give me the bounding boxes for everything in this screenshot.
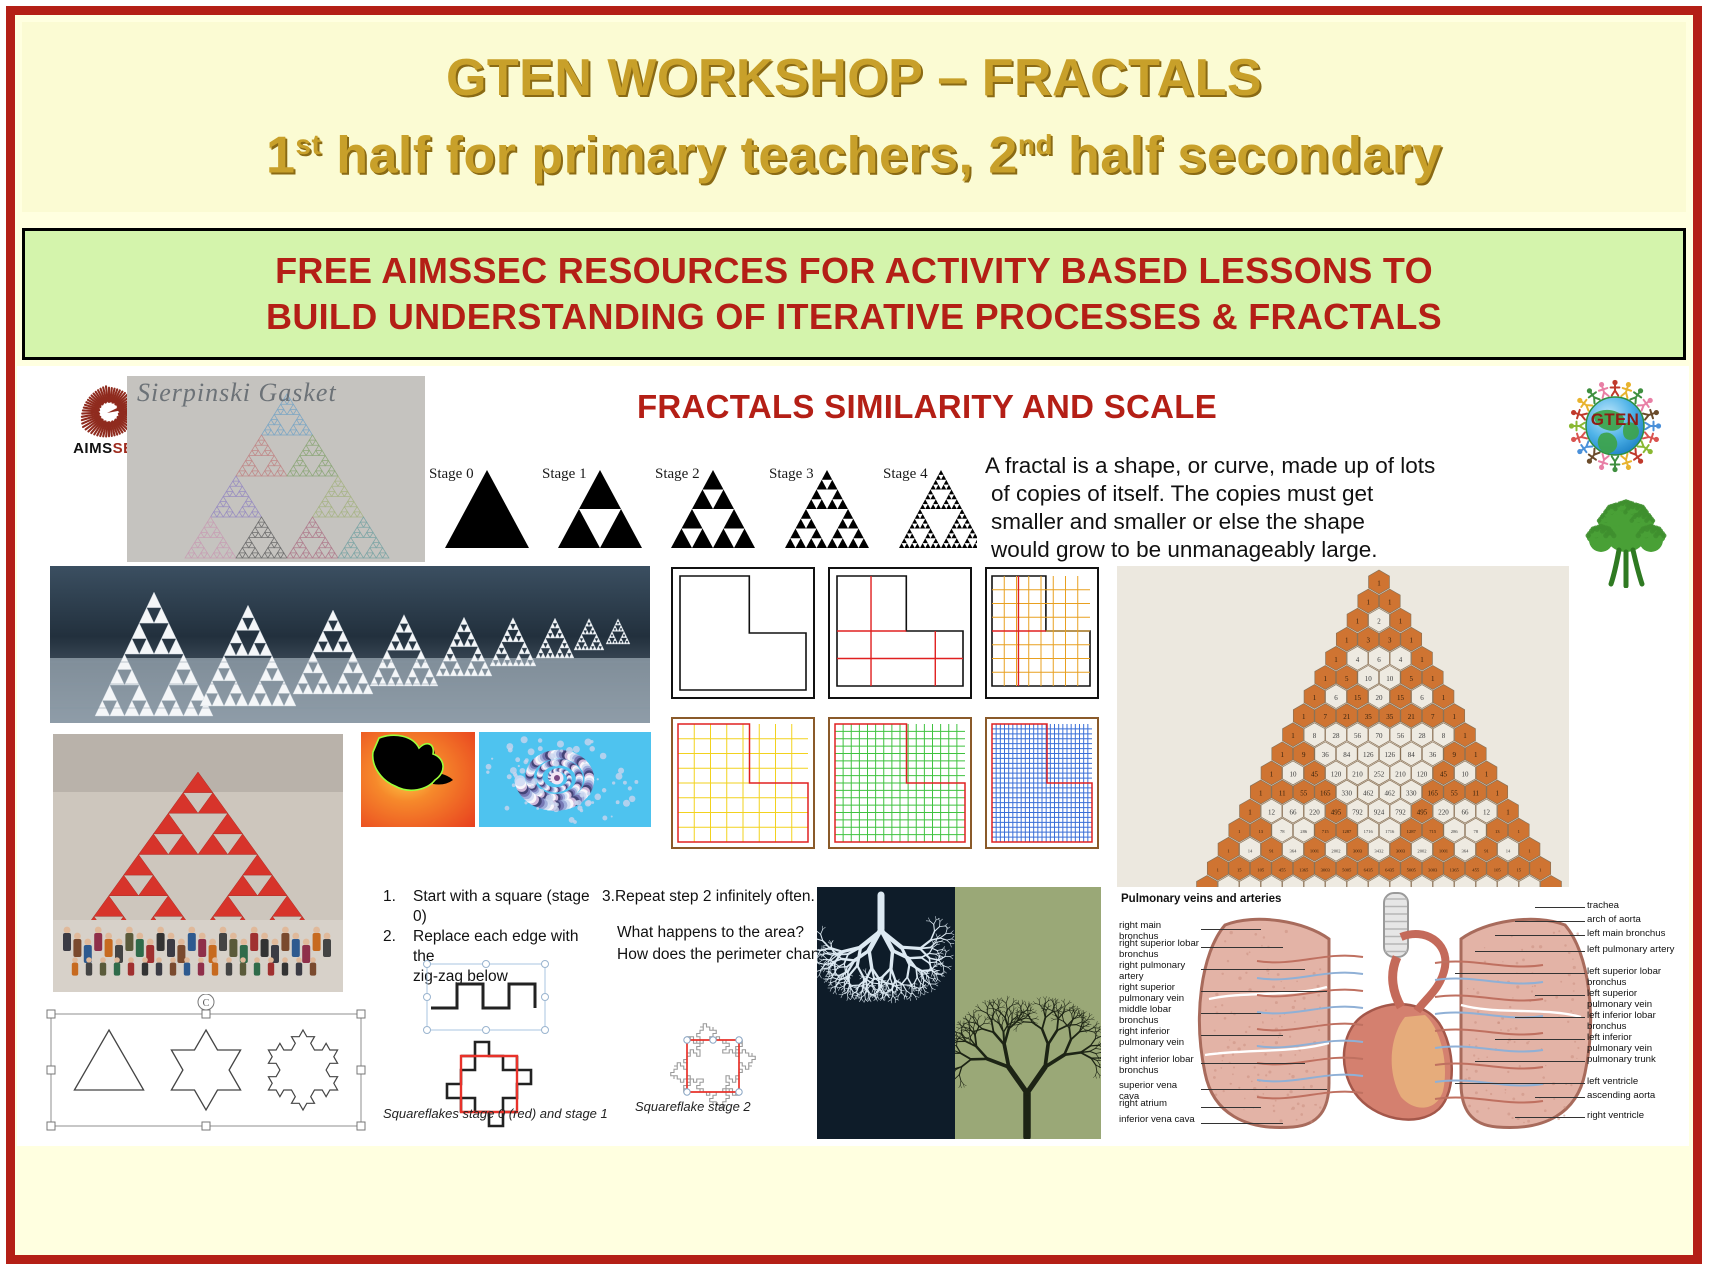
svg-text:715: 715	[1429, 829, 1437, 834]
svg-text:2002: 2002	[1417, 848, 1427, 853]
anatomy-label-left: right superior pulmonary vein	[1119, 983, 1199, 1004]
svg-text:126: 126	[1385, 751, 1396, 759]
svg-text:28: 28	[1333, 732, 1341, 740]
anatomy-label-left: middle lobar bronchus	[1119, 1005, 1199, 1026]
svg-text:792: 792	[1395, 808, 1406, 816]
svg-text:45: 45	[1440, 770, 1448, 778]
instruction-item: 3.Repeat step 2 infinitely often.	[602, 887, 832, 907]
content-area: AIMSSEC GTEN FRACTALS SIMILARITY AND SCA…	[17, 366, 1689, 1146]
svg-text:45: 45	[1311, 770, 1319, 778]
svg-text:1716: 1716	[1385, 829, 1395, 834]
svg-text:210: 210	[1352, 770, 1363, 778]
svg-text:4: 4	[1356, 656, 1360, 664]
anatomy-label-left: right inferior pulmonary vein	[1119, 1027, 1199, 1048]
svg-text:2: 2	[1377, 618, 1381, 626]
anatomy-leader-line	[1201, 1063, 1305, 1064]
anatomy-label-left: right superior lobar bronchus	[1119, 939, 1199, 960]
lsystem-svg-2	[984, 566, 1100, 700]
sierpinski-gasket-photo: Sierpinski Gasket	[127, 376, 425, 562]
lsystem-stage-1	[827, 566, 973, 700]
svg-text:12: 12	[1483, 808, 1491, 816]
squareflake-progression-svg: C	[41, 994, 371, 1134]
svg-text:1: 1	[1248, 808, 1252, 816]
julia-spiral-image	[479, 732, 651, 827]
svg-text:7: 7	[1431, 713, 1435, 721]
definition-line-1: of copies of itself. The copies must get	[985, 480, 1457, 508]
anatomy-label-right: right ventricle	[1587, 1111, 1679, 1122]
anatomy-leader-line	[1201, 1013, 1261, 1014]
instruction-item: 1.Start with a square (stage 0)	[383, 887, 598, 927]
anatomy-title: Pulmonary veins and arteries	[1121, 893, 1281, 905]
svg-text:1: 1	[1334, 656, 1338, 664]
svg-text:10: 10	[1386, 675, 1394, 683]
lsystem-stage-5	[984, 716, 1100, 850]
svg-text:1: 1	[1442, 694, 1446, 702]
anatomy-leader-line	[1201, 1107, 1261, 1108]
anatomy-label-right: left inferior pulmonary vein	[1587, 1033, 1679, 1054]
svg-text:1: 1	[1474, 751, 1478, 759]
svg-text:56: 56	[1354, 732, 1362, 740]
svg-text:330: 330	[1342, 789, 1353, 797]
svg-text:286: 286	[1451, 829, 1459, 834]
svg-text:495: 495	[1417, 808, 1428, 816]
page-title: FRACTALS SIMILARITY AND SCALE	[577, 388, 1277, 426]
anatomy-label-right: left inferior lobar bronchus	[1587, 1011, 1679, 1032]
svg-text:462: 462	[1385, 789, 1396, 797]
resources-banner: FREE AIMSSEC RESOURCES FOR ACTIVITY BASE…	[22, 228, 1686, 360]
svg-text:55: 55	[1451, 789, 1459, 797]
svg-text:78: 78	[1280, 829, 1285, 834]
svg-text:924: 924	[1374, 808, 1385, 816]
svg-text:5: 5	[1410, 675, 1414, 683]
definition-line-0: A fractal is a shape, or curve, made up …	[985, 452, 1457, 480]
svg-text:28: 28	[1419, 732, 1427, 740]
svg-text:Stage 4: Stage 4	[883, 466, 928, 482]
squareflake-caption-2: Squareflake stage 2	[635, 1099, 751, 1114]
svg-text:8: 8	[1313, 732, 1317, 740]
gten-logo-label: GTEN	[1563, 410, 1667, 430]
svg-text:Stage 0: Stage 0	[429, 466, 474, 482]
tree-svg	[955, 887, 1101, 1139]
svg-text:36: 36	[1322, 751, 1330, 759]
subtitle-sup-2: nd	[1018, 129, 1053, 160]
svg-text:Stage 3: Stage 3	[769, 466, 814, 482]
svg-text:3003: 3003	[1321, 867, 1331, 872]
svg-text:220: 220	[1309, 808, 1320, 816]
anatomy-leader-line	[1201, 1123, 1283, 1124]
anatomy-label-right: left pulmonary artery	[1587, 945, 1679, 956]
svg-text:4: 4	[1399, 656, 1403, 664]
svg-text:9: 9	[1453, 751, 1457, 759]
banner-line-1: FREE AIMSSEC RESOURCES FOR ACTIVITY BASE…	[275, 248, 1433, 294]
aimssec-text-a: AIMS	[73, 440, 113, 457]
anatomy-leader-line	[1515, 921, 1585, 922]
svg-text:78: 78	[1473, 829, 1478, 834]
svg-text:1365: 1365	[1450, 867, 1460, 872]
svg-text:1001: 1001	[1310, 848, 1320, 853]
svg-text:1: 1	[1367, 598, 1371, 606]
svg-text:15: 15	[1516, 867, 1521, 872]
lsystem-svg-0	[670, 566, 816, 700]
svg-text:1: 1	[1453, 713, 1457, 721]
anatomy-label-right: left superior pulmonary vein	[1587, 989, 1679, 1010]
svg-text:165: 165	[1428, 789, 1439, 797]
anatomy-leader-line	[1201, 1035, 1283, 1036]
svg-text:462: 462	[1363, 789, 1374, 797]
anatomy-label-right: left ventricle	[1587, 1077, 1679, 1088]
mall-svg	[53, 734, 343, 992]
svg-text:10: 10	[1462, 770, 1470, 778]
svg-text:1: 1	[1506, 808, 1510, 816]
anatomy-label-right: pulmonary trunk	[1587, 1055, 1679, 1066]
svg-text:21: 21	[1408, 713, 1416, 721]
svg-text:2002: 2002	[1331, 848, 1341, 853]
lung-bronchial-xray-photo	[817, 887, 955, 1139]
svg-text:66: 66	[1290, 808, 1298, 816]
svg-text:3: 3	[1388, 637, 1392, 645]
svg-text:6435: 6435	[1364, 867, 1374, 872]
svg-text:13: 13	[1495, 829, 1500, 834]
svg-text:1: 1	[1463, 732, 1467, 740]
anatomy-leader-line	[1455, 1083, 1585, 1084]
svg-text:C: C	[203, 998, 210, 1009]
svg-text:1: 1	[1388, 598, 1392, 606]
anatomy-label-left: inferior vena cava	[1119, 1115, 1199, 1126]
svg-text:715: 715	[1322, 829, 1330, 834]
svg-text:1001: 1001	[1439, 848, 1449, 853]
anatomy-leader-line	[1515, 1117, 1585, 1118]
romanesco-broccoli-photo	[1573, 492, 1679, 588]
svg-text:1: 1	[1496, 789, 1500, 797]
svg-text:12: 12	[1268, 808, 1276, 816]
svg-text:6: 6	[1377, 656, 1381, 664]
svg-text:66: 66	[1462, 808, 1470, 816]
svg-text:21: 21	[1343, 713, 1351, 721]
heart-lungs-anatomy-diagram: Pulmonary veins and arteries right main …	[1105, 887, 1685, 1142]
sierpinski-photo-caption: Sierpinski Gasket	[137, 378, 337, 408]
mandelbrot-svg	[361, 732, 475, 827]
anatomy-label-right: trachea	[1587, 901, 1679, 912]
definition-line-3: would grow to be unmanageably large.	[985, 536, 1457, 564]
lsystem-stage-3	[670, 716, 816, 850]
svg-text:15: 15	[1354, 694, 1362, 702]
lsystem-svg-5	[984, 716, 1100, 850]
julia-svg	[479, 732, 651, 827]
anatomy-label-left: right pulmonary artery	[1119, 961, 1199, 982]
svg-text:252: 252	[1374, 770, 1385, 778]
squareflake-caption-1: Squareflakes stage 0 (red) and stage 1	[383, 1106, 608, 1121]
subtitle-part-3: half secondary	[1053, 126, 1442, 184]
svg-text:6: 6	[1420, 694, 1424, 702]
subtitle-part-1: 1	[266, 126, 295, 184]
title-banner: GTEN WORKSHOP – FRACTALS 1st half for pr…	[22, 22, 1686, 212]
svg-text:13: 13	[1258, 829, 1263, 834]
svg-text:14: 14	[1506, 848, 1511, 853]
anatomy-label-left: right inferior lobar bronchus	[1119, 1055, 1199, 1076]
svg-text:165: 165	[1320, 789, 1331, 797]
svg-text:1: 1	[1324, 675, 1328, 683]
broccoli-icon	[1573, 492, 1679, 588]
workshop-subtitle: 1st half for primary teachers, 2nd half …	[266, 114, 1442, 186]
svg-text:15: 15	[1237, 867, 1242, 872]
svg-text:84: 84	[1408, 751, 1416, 759]
svg-text:91: 91	[1269, 848, 1274, 853]
instructions-right: 3.Repeat step 2 infinitely often.	[602, 887, 832, 907]
svg-text:1: 1	[1410, 637, 1414, 645]
lsystem-stage-0	[670, 566, 816, 700]
instruction-number: 3.	[602, 887, 615, 907]
svg-text:220: 220	[1438, 808, 1449, 816]
svg-text:Stage 2: Stage 2	[655, 466, 700, 482]
svg-text:56: 56	[1397, 732, 1405, 740]
instruction-number	[383, 967, 413, 987]
anatomy-leader-line	[1201, 969, 1305, 970]
subtitle-part-2: half for primary teachers, 2	[321, 126, 1018, 184]
svg-text:35: 35	[1365, 713, 1373, 721]
lsystem-stage-4	[827, 716, 973, 850]
svg-text:5: 5	[1345, 675, 1349, 683]
svg-text:1: 1	[1291, 732, 1295, 740]
svg-text:3003: 3003	[1353, 848, 1363, 853]
svg-text:792: 792	[1352, 808, 1363, 816]
instruction-number: 1.	[383, 887, 413, 927]
svg-text:3432: 3432	[1374, 848, 1384, 853]
svg-text:455: 455	[1472, 867, 1480, 872]
lsystem-svg-1	[827, 566, 973, 700]
anatomy-leader-line	[1201, 947, 1283, 948]
svg-text:55: 55	[1300, 789, 1308, 797]
lsystem-svg-3	[670, 716, 816, 850]
svg-text:1: 1	[1399, 618, 1403, 626]
anatomy-leader-line	[1475, 951, 1585, 952]
anatomy-leader-line	[1535, 995, 1585, 996]
anatomy-leader-line	[1201, 991, 1327, 992]
svg-text:1: 1	[1485, 770, 1489, 778]
svg-text:1: 1	[1356, 618, 1360, 626]
anatomy-leader-line	[1201, 929, 1261, 930]
svg-text:14: 14	[1248, 848, 1253, 853]
svg-text:5005: 5005	[1407, 867, 1417, 872]
svg-text:1: 1	[1431, 675, 1435, 683]
paper-sierpinski-glass-photo	[50, 566, 650, 723]
svg-text:6435: 6435	[1385, 867, 1395, 872]
svg-text:3: 3	[1367, 637, 1371, 645]
anatomy-label-right: left superior lobar bronchus	[1587, 967, 1679, 988]
svg-text:105: 105	[1494, 867, 1502, 872]
svg-text:455: 455	[1279, 867, 1287, 872]
svg-text:286: 286	[1300, 829, 1308, 834]
svg-text:1: 1	[1259, 789, 1263, 797]
anatomy-leader-line	[1495, 935, 1585, 936]
lsystem-stage-2	[984, 566, 1100, 700]
svg-text:7: 7	[1324, 713, 1328, 721]
mandelbrot-set-image	[361, 732, 475, 827]
svg-text:10: 10	[1365, 675, 1373, 683]
definition-line-2: smaller and smaller or else the shape	[985, 508, 1457, 536]
anatomy-leader-line	[1495, 1039, 1585, 1040]
subtitle-sup-1: st	[295, 129, 321, 160]
svg-text:364: 364	[1462, 848, 1470, 853]
anatomy-label-right: arch of aorta	[1587, 915, 1679, 926]
stages-svg: Stage 0Stage 1Stage 2Stage 3Stage 4	[417, 454, 977, 564]
svg-text:9: 9	[1302, 751, 1306, 759]
svg-text:84: 84	[1343, 751, 1351, 759]
svg-text:1716: 1716	[1364, 829, 1374, 834]
red-sierpinski-mall-photo	[53, 734, 343, 992]
svg-text:1365: 1365	[1299, 867, 1309, 872]
svg-text:11: 11	[1279, 789, 1286, 797]
svg-text:1287: 1287	[1407, 829, 1417, 834]
anatomy-leader-line	[1201, 1089, 1327, 1090]
svg-text:364: 364	[1290, 848, 1298, 853]
svg-text:20: 20	[1376, 694, 1384, 702]
svg-text:70: 70	[1376, 732, 1384, 740]
svg-text:15: 15	[1397, 694, 1405, 702]
svg-text:1: 1	[1377, 579, 1381, 587]
svg-text:3003: 3003	[1396, 848, 1406, 853]
svg-text:495: 495	[1331, 808, 1342, 816]
fractal-definition-text: A fractal is a shape, or curve, made up …	[985, 452, 1457, 564]
sierpinski-stages-strip: Stage 0Stage 1Stage 2Stage 3Stage 4	[417, 454, 977, 564]
banner-line-2: BUILD UNDERSTANDING OF ITERATIVE PROCESS…	[266, 294, 1442, 340]
anatomy-label-left: right atrium	[1119, 1099, 1199, 1110]
svg-text:11: 11	[1472, 789, 1479, 797]
winter-tree-photo	[955, 887, 1101, 1139]
svg-text:35: 35	[1386, 713, 1394, 721]
anatomy-leader-line	[1535, 1097, 1585, 1098]
instruction-text: Repeat step 2 infinitely often.	[615, 887, 815, 907]
svg-text:210: 210	[1395, 770, 1406, 778]
svg-text:330: 330	[1406, 789, 1417, 797]
svg-text:1: 1	[1281, 751, 1285, 759]
svg-text:10: 10	[1290, 770, 1298, 778]
workshop-title: GTEN WORKSHOP – FRACTALS	[446, 48, 1262, 108]
svg-text:36: 36	[1429, 751, 1437, 759]
slide-page: GTEN WORKSHOP – FRACTALS 1st half for pr…	[0, 0, 1714, 1276]
svg-text:126: 126	[1363, 751, 1374, 759]
svg-text:105: 105	[1257, 867, 1265, 872]
svg-text:6: 6	[1334, 694, 1338, 702]
bronchial-svg	[817, 887, 955, 1139]
svg-text:120: 120	[1331, 770, 1342, 778]
glass-roof-svg	[50, 566, 650, 723]
svg-text:1: 1	[1345, 637, 1349, 645]
svg-text:5005: 5005	[1342, 867, 1352, 872]
gten-logo: GTEN	[1563, 372, 1667, 476]
svg-text:Stage 1: Stage 1	[542, 466, 587, 482]
svg-text:91: 91	[1484, 848, 1489, 853]
svg-text:1: 1	[1302, 713, 1306, 721]
svg-text:3003: 3003	[1428, 867, 1438, 872]
svg-text:1: 1	[1420, 656, 1424, 664]
svg-text:120: 120	[1417, 770, 1428, 778]
anatomy-leader-line	[1475, 1061, 1585, 1062]
lsystem-svg-4	[827, 716, 973, 850]
anatomy-leader-line	[1455, 973, 1585, 974]
instruction-text: Start with a square (stage 0)	[413, 887, 598, 927]
anatomy-leader-line	[1535, 907, 1585, 908]
svg-text:1: 1	[1313, 694, 1317, 702]
svg-text:1287: 1287	[1342, 829, 1352, 834]
anatomy-leader-line	[1515, 1017, 1585, 1018]
instruction-number: 2.	[383, 927, 413, 967]
svg-text:8: 8	[1442, 732, 1446, 740]
squareflake-progression-figure: C	[41, 994, 371, 1134]
svg-text:1: 1	[1270, 770, 1274, 778]
anatomy-label-right: ascending aorta	[1587, 1091, 1679, 1102]
anatomy-label-right: left main bronchus	[1587, 929, 1679, 940]
